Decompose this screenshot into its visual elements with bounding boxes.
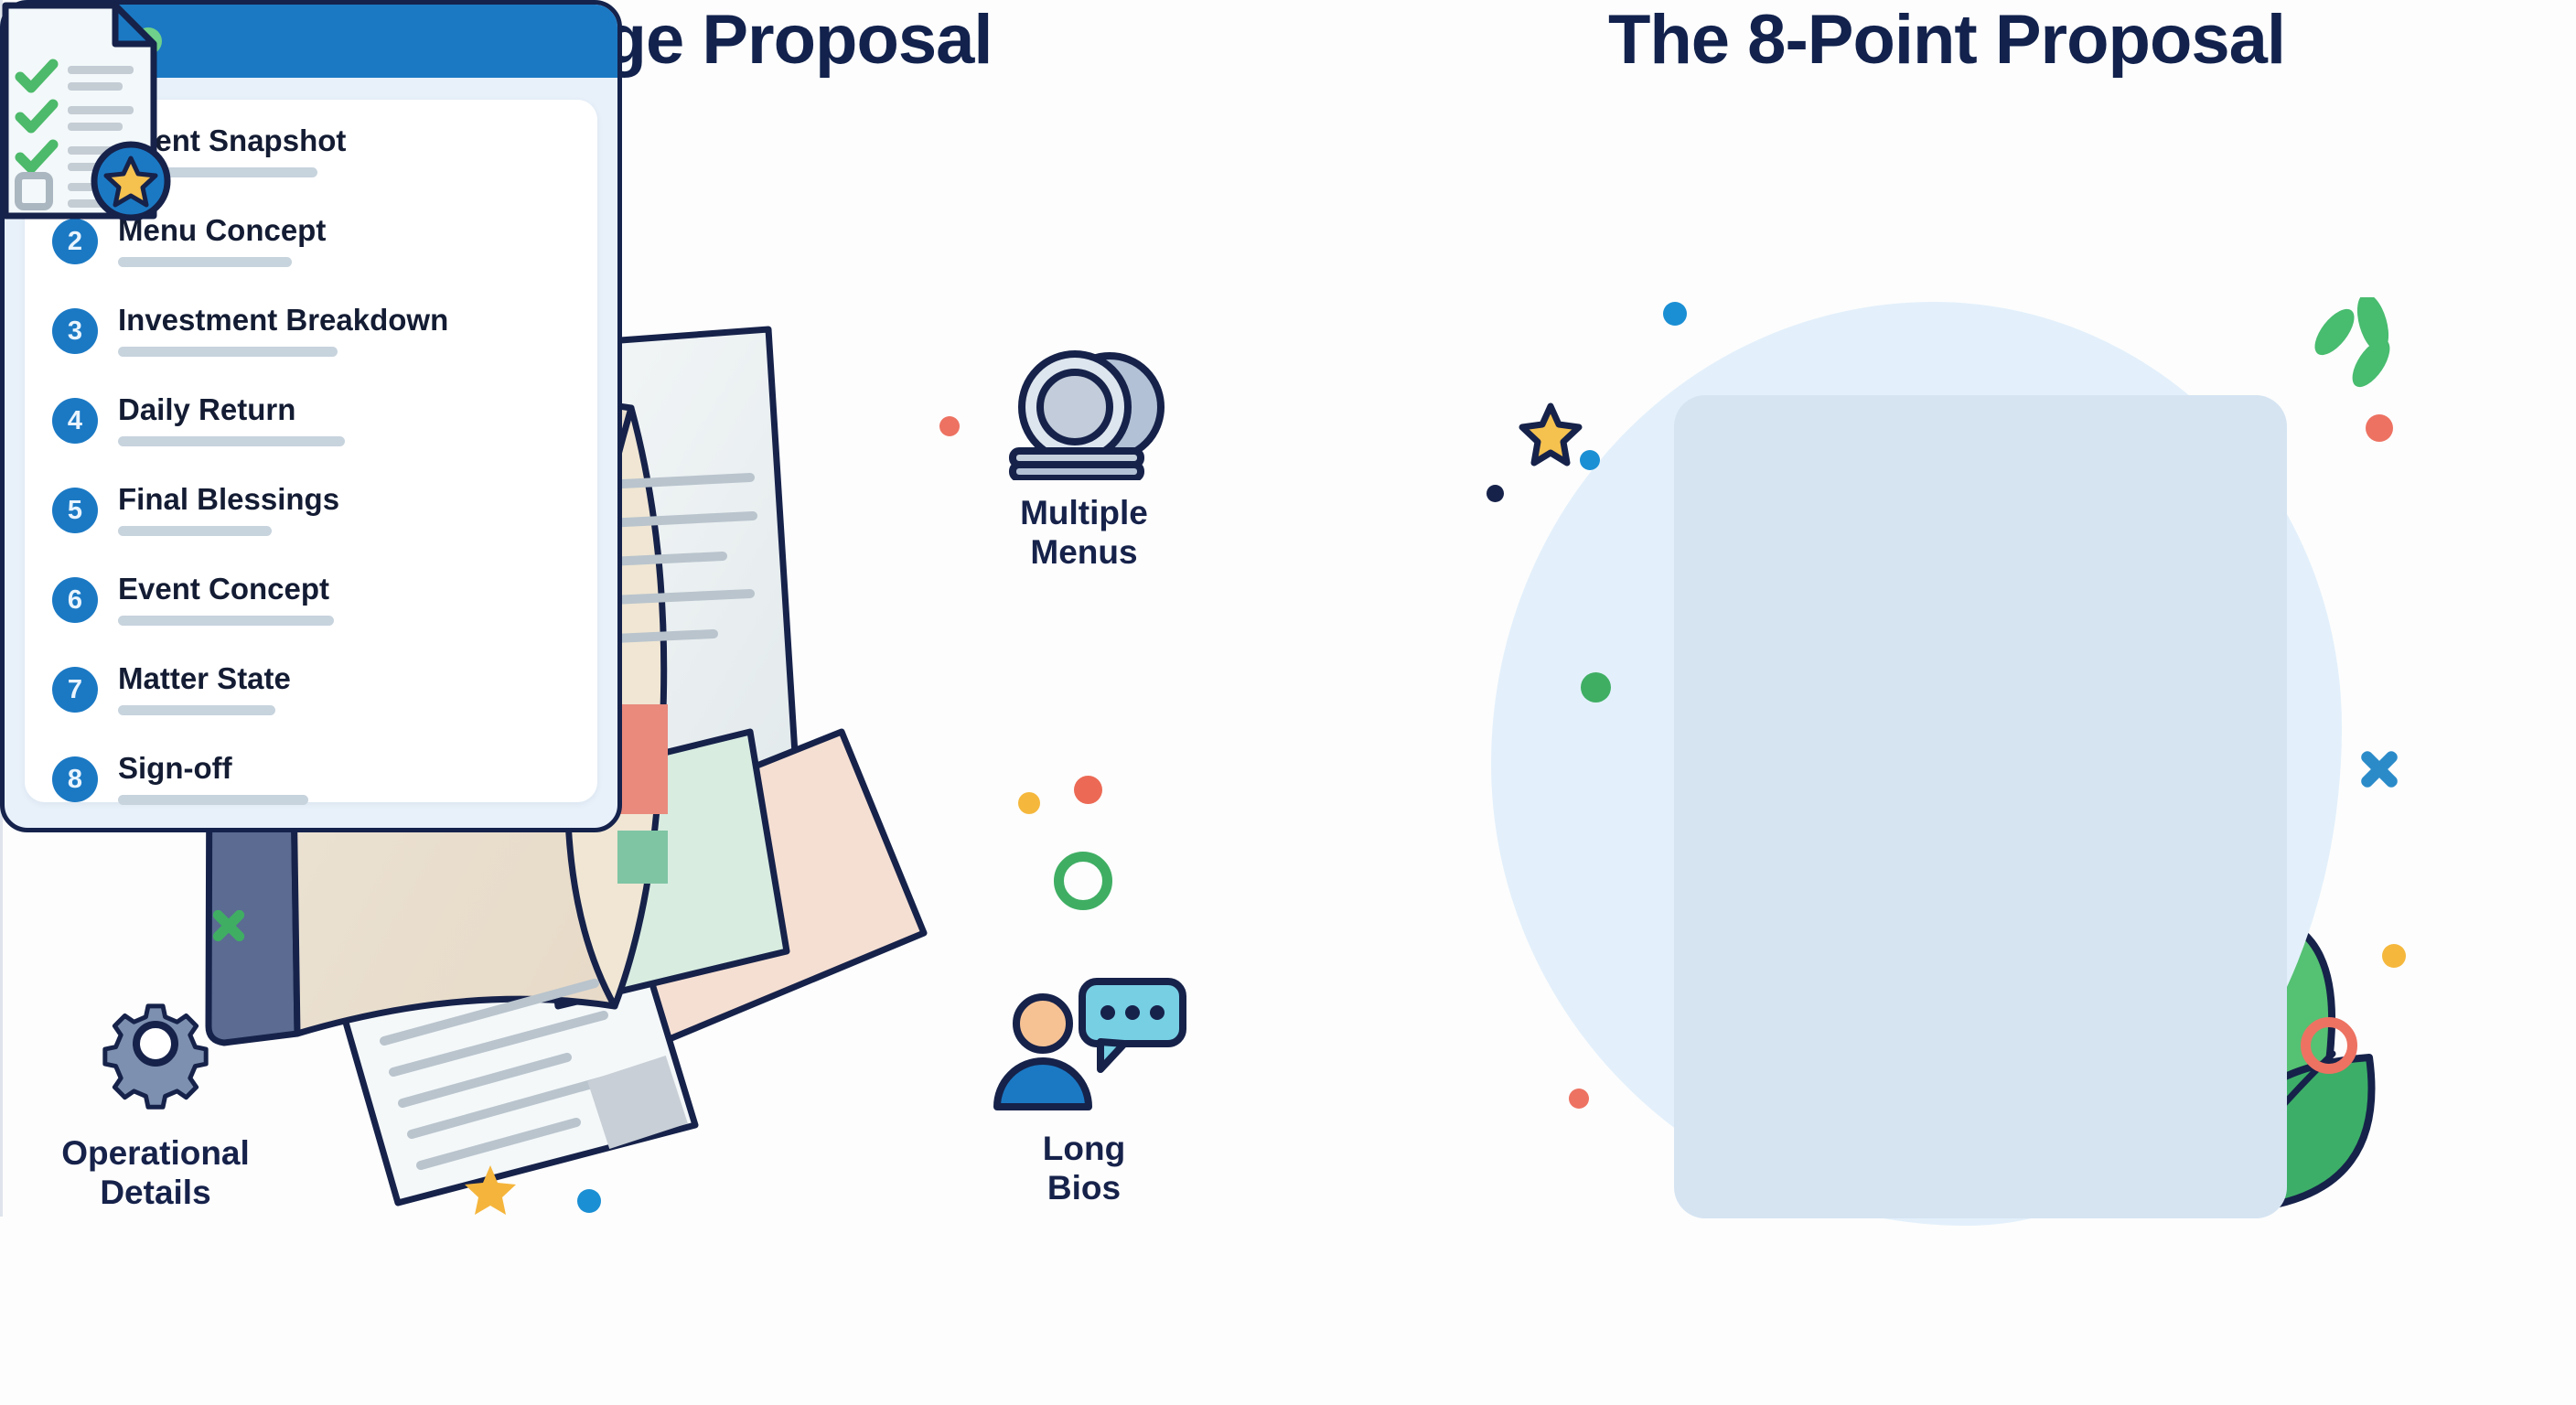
blue-dot [1580, 450, 1600, 470]
right-decorations-front [0, 0, 2576, 1405]
blue-dot [1663, 302, 1687, 326]
green-dot [1581, 672, 1611, 702]
coral-dot [2366, 414, 2393, 442]
star-icon [1519, 402, 1583, 467]
infographic-canvas: The 12-Page Proposal The 8-Point Proposa… [0, 0, 2576, 1405]
coral-dot [1569, 1089, 1589, 1109]
blue-x-icon [2356, 746, 2402, 792]
coral-ring-icon [2301, 1017, 2357, 1074]
amber-dot [2382, 944, 2406, 968]
navy-dot [1487, 485, 1504, 502]
